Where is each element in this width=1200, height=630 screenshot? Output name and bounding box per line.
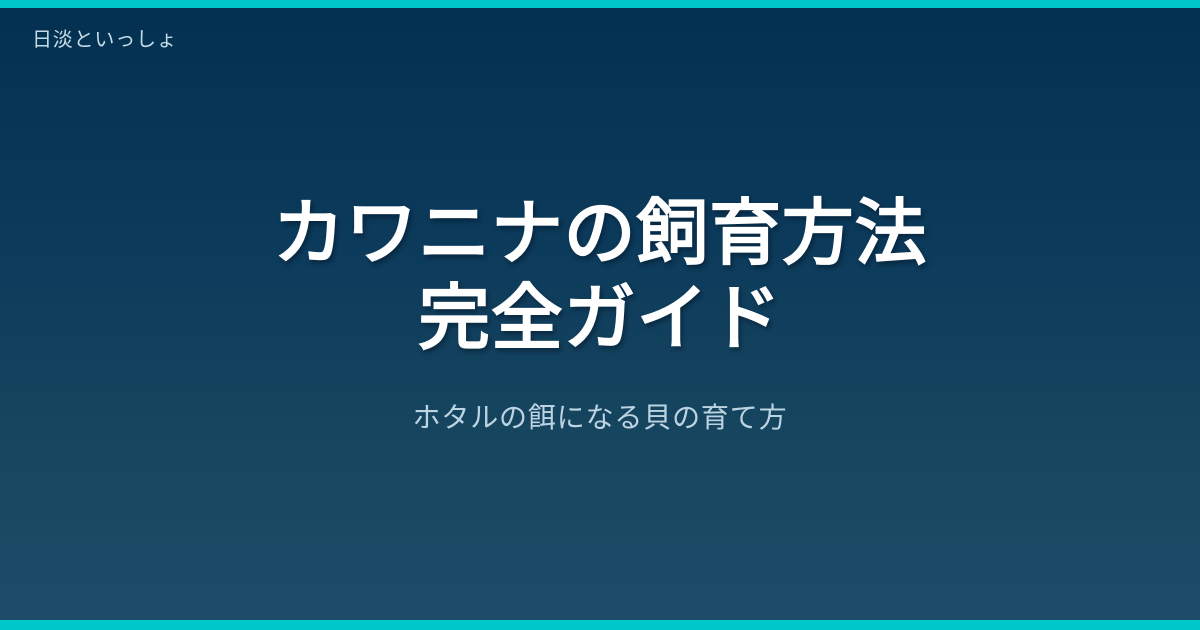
bottom-accent-bar [0, 620, 1200, 630]
page-title: カワニナの飼育方法 完全ガイド [60, 192, 1140, 362]
page-subtitle: ホタルの餌になる貝の育て方 [413, 398, 788, 439]
title-line-2: 完全ガイド [60, 277, 1140, 362]
card-content: カワニナの飼育方法 完全ガイド ホタルの餌になる貝の育て方 [0, 0, 1200, 630]
ogp-card: 日淡といっしょ カワニナの飼育方法 完全ガイド ホタルの餌になる貝の育て方 [0, 0, 1200, 630]
title-line-1: カワニナの飼育方法 [60, 192, 1140, 277]
